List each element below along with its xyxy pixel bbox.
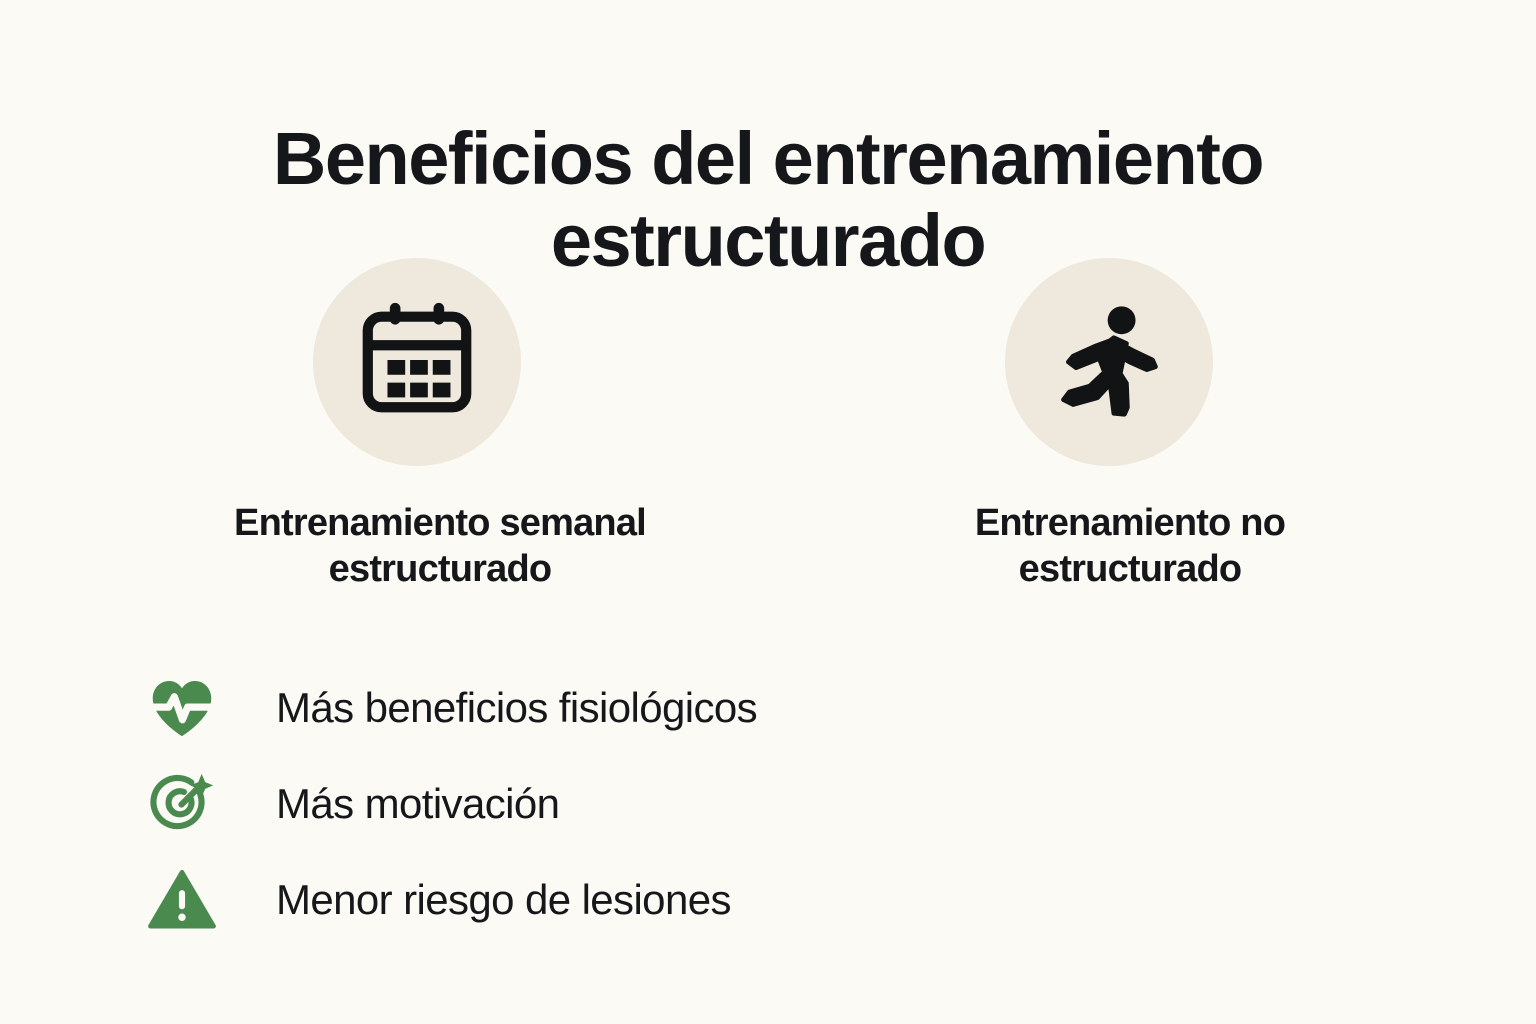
- running-person-icon-badge: [1005, 258, 1213, 466]
- benefits-list: Más beneficios fisiológicos Más motivaci…: [146, 660, 966, 948]
- column-unstructured-training: Entrenamiento no estructurado: [830, 258, 1430, 593]
- heart-pulse-icon: [146, 672, 218, 744]
- target-arrow-icon: [146, 768, 218, 840]
- column-structured-training: Entrenamiento semanal estructurado: [60, 258, 820, 593]
- warning-triangle-icon: [146, 864, 218, 936]
- benefit-label: Más motivación: [276, 781, 559, 827]
- benefit-label: Más beneficios fisiológicos: [276, 685, 757, 731]
- list-item: Menor riesgo de lesiones: [146, 852, 966, 948]
- column-heading-unstructured: Entrenamiento no estructurado: [830, 500, 1430, 593]
- calendar-icon-badge: [313, 258, 521, 466]
- list-item: Más motivación: [146, 756, 966, 852]
- running-person-icon: [1047, 298, 1171, 427]
- benefit-label: Menor riesgo de lesiones: [276, 877, 731, 923]
- list-item: Más beneficios fisiológicos: [146, 660, 966, 756]
- column-heading-structured: Entrenamiento semanal estructurado: [60, 500, 820, 593]
- infographic-slide: Beneficios del entrenamiento estructurad…: [0, 0, 1536, 1024]
- calendar-icon: [354, 297, 480, 428]
